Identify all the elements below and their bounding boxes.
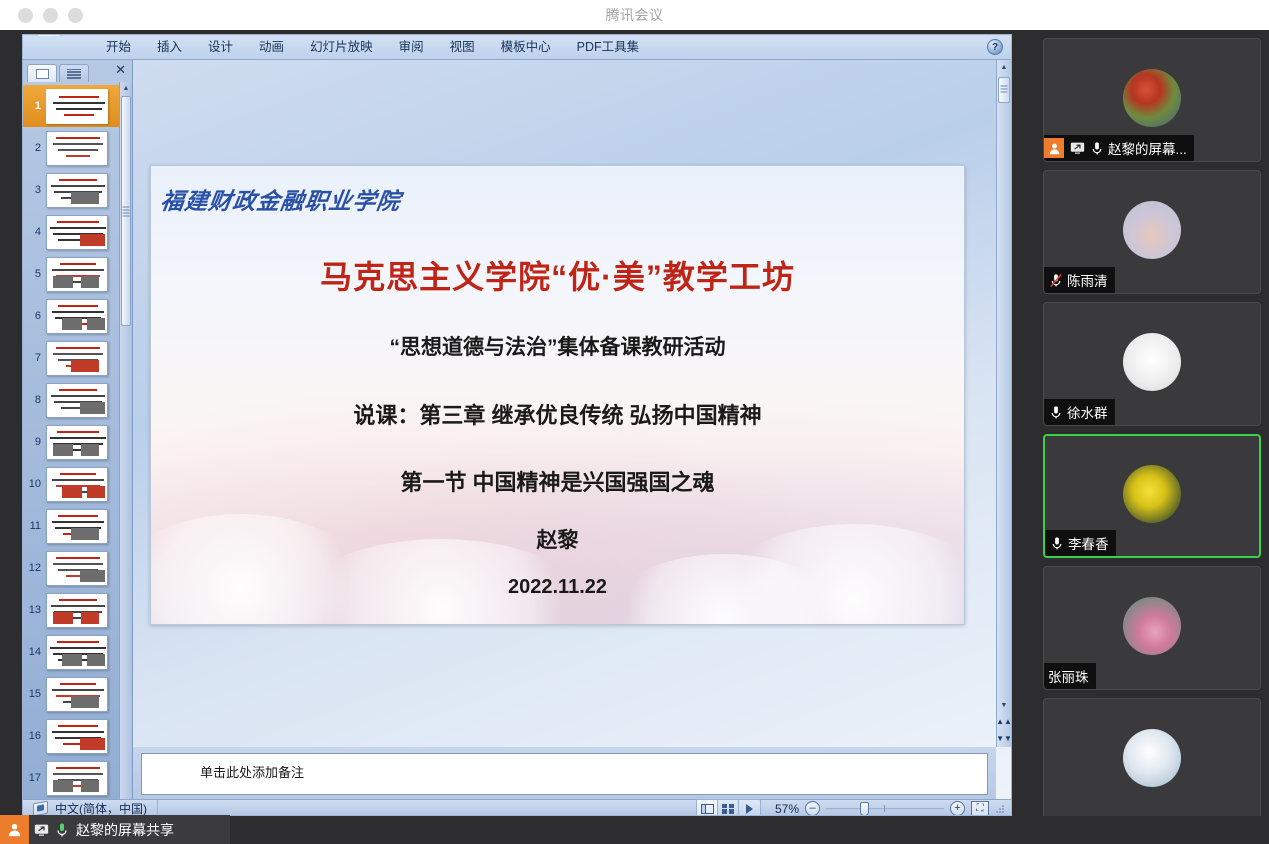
zoom-default-tick [884, 805, 885, 812]
scroll-thumb[interactable] [998, 77, 1010, 103]
powerpoint-status-bar: 中文(简体，中国) 57% – + ⛶ [23, 799, 1011, 816]
thumbnail-slide-14[interactable]: 14 [23, 631, 132, 673]
thumbnail-content-line [59, 599, 97, 602]
thumbnail-number: 3 [25, 184, 41, 196]
participant-name: 陈雨清 [1067, 270, 1108, 290]
slide-thumbnails-pane: ✕ 1234567891011121314151617 ▲ [23, 60, 133, 799]
thumbnail-list[interactable]: 1234567891011121314151617 [23, 82, 132, 799]
thumbnail-slide-4[interactable]: 4 [23, 211, 132, 253]
powerpoint-window: ▾ ▾ 第三章第一节 集备 赵黎 - Microsoft PowerPoint … [22, 34, 1012, 816]
scroll-up-icon[interactable]: ▲ [997, 60, 1011, 75]
mic-icon [1048, 405, 1063, 420]
thumbnail-slide-17[interactable]: 17 [23, 757, 132, 799]
thumbnail-content-line [56, 557, 100, 560]
thumbnail-preview[interactable] [46, 299, 108, 334]
slide-canvas-area: 福建财政金融职业学院 马克思主义学院“优·美”教学工坊 “思想道德与法治”集体备… [133, 60, 1011, 799]
thumbnail-image-block [87, 318, 105, 330]
thumbnail-image-block [81, 612, 99, 624]
thumbnail-preview[interactable] [46, 677, 108, 712]
scroll-down-icon[interactable]: ▼ [997, 698, 1011, 713]
participant-label: 陈雨清 [1044, 267, 1115, 293]
tab-pdf-tools[interactable]: PDF工具集 [564, 34, 653, 59]
thumbnail-content-line [58, 725, 98, 728]
thumbnail-image-block [62, 486, 82, 498]
canvas-vertical-scrollbar[interactable]: ▲ ▼ ▲▲ ▼▼ [996, 60, 1011, 747]
thumbnail-image-block [81, 696, 99, 708]
thumbnail-content-line [52, 311, 104, 313]
tab-review[interactable]: 审阅 [386, 34, 437, 59]
participant-tile[interactable]: 赵黎的屏幕... [1043, 38, 1261, 162]
ribbon-tab-bar[interactable]: 开始 插入 设计 动画 幻灯片放映 审阅 视图 模板中心 PDF工具集 ? [23, 36, 1011, 60]
thumbnail-number: 9 [25, 436, 41, 448]
screen: 腾讯会议 ▾ [0, 0, 1269, 844]
thumbnail-image-block [53, 780, 73, 792]
next-slide-icon[interactable]: ▼▼ [997, 730, 1011, 747]
thumbnail-number: 13 [25, 604, 41, 616]
thumbnail-image-block [87, 654, 105, 666]
thumbnail-number: 8 [25, 394, 41, 406]
mic-muted-icon [1048, 273, 1063, 288]
host-badge-icon [1044, 138, 1064, 158]
slide-section-line: 第一节 中国精神是兴国强国之魂 [151, 465, 964, 497]
zoom-slider-handle[interactable] [860, 802, 869, 816]
thumbnail-number: 1 [25, 100, 41, 112]
previous-slide-icon[interactable]: ▲▲ [997, 713, 1011, 730]
participant-tile[interactable]: 徐水群 [1043, 302, 1261, 426]
thumbnail-content-line [51, 185, 105, 187]
participant-label: 赵黎的屏幕... [1044, 135, 1194, 161]
thumbnails-tabs[interactable]: ✕ [23, 60, 132, 82]
thumbnail-preview[interactable] [46, 425, 108, 460]
avatar [1123, 333, 1181, 391]
tab-slideshow[interactable]: 幻灯片放映 [297, 34, 386, 59]
thumbnail-content-line [57, 641, 99, 644]
thumbnail-slide-6[interactable]: 6 [23, 295, 132, 337]
scroll-grip-icon [1001, 86, 1008, 95]
notes-placeholder[interactable]: 单击此处添加备注 [141, 753, 988, 795]
outline-tab[interactable] [59, 64, 89, 82]
thumbnail-content-line [66, 155, 90, 157]
thumbnail-number: 4 [25, 226, 41, 238]
thumbnail-content-line [56, 347, 100, 350]
thumbnail-content-line [53, 773, 103, 775]
thumbnail-content-line [52, 521, 104, 523]
thumbnail-image-block [81, 444, 99, 456]
thumbnail-preview[interactable] [46, 761, 108, 796]
avatar [1123, 465, 1181, 523]
thumbnail-image-block [62, 654, 82, 666]
tab-home[interactable]: 开始 [93, 34, 144, 59]
slide-date: 2022.11.22 [151, 576, 964, 599]
close-pane-icon[interactable]: ✕ [115, 62, 126, 78]
participant-tile[interactable] [1043, 698, 1261, 816]
thumbnail-preview[interactable] [46, 131, 108, 166]
thumbnails-scroll-thumb[interactable] [121, 96, 131, 326]
participant-tile[interactable]: 李春香 [1043, 434, 1261, 558]
thumbnail-slide-11[interactable]: 11 [23, 505, 132, 547]
participant-label: 张丽珠 [1044, 663, 1096, 689]
thumbnail-content-line [58, 305, 98, 308]
thumbnail-number: 16 [25, 730, 41, 742]
thumbnail-image-block [53, 276, 73, 288]
thumbnail-slide-15[interactable]: 15 [23, 673, 132, 715]
thumbnail-number: 11 [25, 520, 41, 532]
thumbnail-content-line [59, 389, 97, 392]
thumbnail-preview[interactable] [46, 467, 108, 502]
zoom-percent-label: 57% [767, 802, 799, 816]
avatar [1123, 69, 1181, 127]
thumbnail-preview[interactable] [46, 173, 108, 208]
thumbnail-slide-12[interactable]: 12 [23, 547, 132, 589]
mic-icon [1049, 536, 1064, 551]
thumbnail-image-block [81, 192, 99, 204]
thumbnails-scroll-up-icon[interactable]: ▲ [120, 82, 132, 95]
thumbnail-content-line [56, 767, 100, 770]
thumbnail-slide-3[interactable]: 3 [23, 169, 132, 211]
thumbnail-preview[interactable] [46, 509, 108, 544]
thumbnail-number: 14 [25, 646, 41, 658]
thumbnail-slide-1[interactable]: 1 [23, 85, 132, 127]
help-icon[interactable]: ? [987, 39, 1003, 55]
thumbnail-slide-7[interactable]: 7 [23, 337, 132, 379]
thumbnail-content-line [52, 731, 104, 733]
thumbnail-image-block [87, 234, 105, 246]
mic-icon [54, 822, 69, 837]
normal-view-icon[interactable] [697, 800, 718, 816]
slideshow-icon[interactable] [739, 800, 760, 816]
screen-share-status-bar: 赵黎的屏幕共享 [0, 815, 230, 844]
thumbnail-slide-9[interactable]: 9 [23, 421, 132, 463]
thumbnail-content-line [50, 437, 106, 439]
thumbnail-image-block [81, 360, 99, 372]
ime-language-label: 中文(简体，中国) [55, 800, 147, 816]
slide-chapter-line: 说课：第三章 继承优良传统 弘扬中国精神 [151, 398, 964, 430]
thumbnail-content-line [50, 647, 106, 649]
zoom-slider[interactable] [826, 801, 944, 816]
scroll-track[interactable] [997, 75, 1011, 698]
thumbnail-preview[interactable] [46, 89, 108, 124]
meeting-app-title: 腾讯会议 [0, 5, 1269, 25]
thumbnail-content-line [57, 431, 99, 434]
thumbnail-content-line [52, 269, 104, 271]
status-right-group: 57% – + ⛶ [696, 799, 1005, 816]
thumbnail-number: 5 [25, 268, 41, 280]
participant-name: 张丽珠 [1048, 666, 1089, 686]
thumbnail-content-line [53, 102, 105, 104]
participants-rail[interactable]: 赵黎的屏幕...陈雨清徐水群李春香张丽珠 [1034, 30, 1269, 816]
thumbnails-scrollbar[interactable]: ▲ [119, 82, 132, 799]
notes-pane[interactable]: 单击此处添加备注 [133, 747, 996, 799]
screen-share-icon [1070, 141, 1085, 156]
school-logo-text: 福建财政金融职业学院 [159, 182, 404, 216]
thumbnail-image-block [87, 570, 105, 582]
thumbnail-content-line [60, 683, 96, 686]
scroll-grip-icon [123, 207, 130, 216]
thumbnail-preview[interactable] [46, 593, 108, 628]
thumbnail-number: 15 [25, 688, 41, 700]
thumbnail-content-line [53, 353, 103, 355]
fit-slide-to-window-icon[interactable]: ⛶ [971, 801, 989, 817]
thumbnail-preview[interactable] [46, 341, 108, 376]
thumbnail-content-line [51, 605, 105, 607]
ime-icon [33, 801, 48, 816]
thumbnail-slide-13[interactable]: 13 [23, 589, 132, 631]
thumbnail-content-line [52, 689, 104, 691]
participant-name: 李春香 [1068, 533, 1109, 553]
participant-tile[interactable]: 张丽珠 [1043, 566, 1261, 690]
thumbnail-content-line [58, 515, 98, 518]
thumbnail-content-line [50, 227, 106, 229]
thumbnail-number: 2 [25, 142, 41, 154]
participant-label: 李春香 [1045, 530, 1116, 556]
thumbnail-content-line [53, 143, 103, 145]
slide-presenter: 赵黎 [151, 524, 964, 554]
thumbnail-content-line [56, 137, 100, 140]
tab-template-center[interactable]: 模板中心 [488, 34, 564, 59]
view-mode-buttons[interactable] [696, 799, 761, 816]
thumbnail-content-line [51, 395, 105, 397]
thumbnail-preview[interactable] [46, 257, 108, 292]
thumbnail-number: 10 [25, 478, 41, 490]
thumbnail-slide-10[interactable]: 10 [23, 463, 132, 505]
avatar [1123, 729, 1181, 787]
screen-share-icon [34, 822, 49, 837]
editor-work-area: ✕ 1234567891011121314151617 ▲ [23, 60, 1011, 799]
thumbnail-image-block [81, 528, 99, 540]
thumbnail-content-line [56, 108, 102, 110]
thumbnail-content-line [60, 263, 96, 266]
thumbnail-preview[interactable] [46, 383, 108, 418]
slide-subtitle: “思想道德与法治”集体备课教研活动 [151, 331, 964, 361]
thumbnail-preview[interactable] [46, 719, 108, 754]
ime-language-indicator[interactable]: 中文(简体，中国) [23, 800, 158, 816]
tab-insert[interactable]: 插入 [144, 34, 195, 59]
thumbnail-content-line [59, 96, 99, 99]
slide-viewport[interactable]: 福建财政金融职业学院 马克思主义学院“优·美”教学工坊 “思想道德与法治”集体备… [133, 60, 996, 747]
thumbnail-number: 6 [25, 310, 41, 322]
tab-design[interactable]: 设计 [195, 34, 246, 59]
thumbnail-content-line [64, 114, 94, 116]
thumbnail-content-line [52, 479, 104, 481]
thumbnail-image-block [81, 276, 99, 288]
thumbnail-number: 12 [25, 562, 41, 574]
thumbnail-preview[interactable] [46, 635, 108, 670]
participant-tile[interactable]: 陈雨清 [1043, 170, 1261, 294]
slide-sorter-icon[interactable] [718, 800, 739, 816]
thumbnail-image-block [53, 444, 73, 456]
mic-icon [1089, 141, 1104, 156]
resize-grip-icon[interactable] [995, 804, 1005, 814]
thumbnail-image-block [87, 402, 105, 414]
participant-name: 徐水群 [1067, 402, 1108, 422]
thumbnail-image-block [81, 780, 99, 792]
thumbnail-slide-16[interactable]: 16 [23, 715, 132, 757]
avatar [1123, 597, 1181, 655]
tab-animation[interactable]: 动画 [246, 34, 297, 59]
thumbnail-image-block [87, 738, 105, 750]
current-slide[interactable]: 福建财政金融职业学院 马克思主义学院“优·美”教学工坊 “思想道德与法治”集体备… [150, 165, 965, 625]
zoom-in-button[interactable]: + [950, 801, 965, 816]
thumbnail-image-block [53, 612, 73, 624]
participant-name: 赵黎的屏幕... [1108, 138, 1187, 158]
share-owner-label: 赵黎的屏幕共享 [76, 820, 174, 840]
thumbnail-preview[interactable] [46, 215, 108, 250]
thumbnail-content-line [60, 473, 96, 476]
thumbnail-preview[interactable] [46, 551, 108, 586]
thumbnail-number: 17 [25, 772, 41, 784]
host-badge-icon [0, 815, 29, 844]
slides-tab[interactable] [27, 64, 57, 82]
participant-label: 徐水群 [1044, 399, 1115, 425]
thumbnail-number: 7 [25, 352, 41, 364]
thumbnail-slide-8[interactable]: 8 [23, 379, 132, 421]
slide-title: 马克思主义学院“优·美”教学工坊 [151, 252, 964, 298]
tab-view[interactable]: 视图 [437, 34, 488, 59]
zoom-out-button[interactable]: – [805, 801, 820, 816]
avatar [1123, 201, 1181, 259]
thumbnail-image-block [62, 318, 82, 330]
thumbnail-content-line [59, 179, 97, 182]
thumbnail-content-line [57, 221, 99, 224]
meeting-titlebar: 腾讯会议 [0, 0, 1269, 30]
thumbnail-content-line [53, 563, 103, 565]
thumbnail-slide-2[interactable]: 2 [23, 127, 132, 169]
thumbnail-slide-5[interactable]: 5 [23, 253, 132, 295]
thumbnail-image-block [87, 486, 105, 498]
thumbnail-content-line [58, 149, 98, 151]
